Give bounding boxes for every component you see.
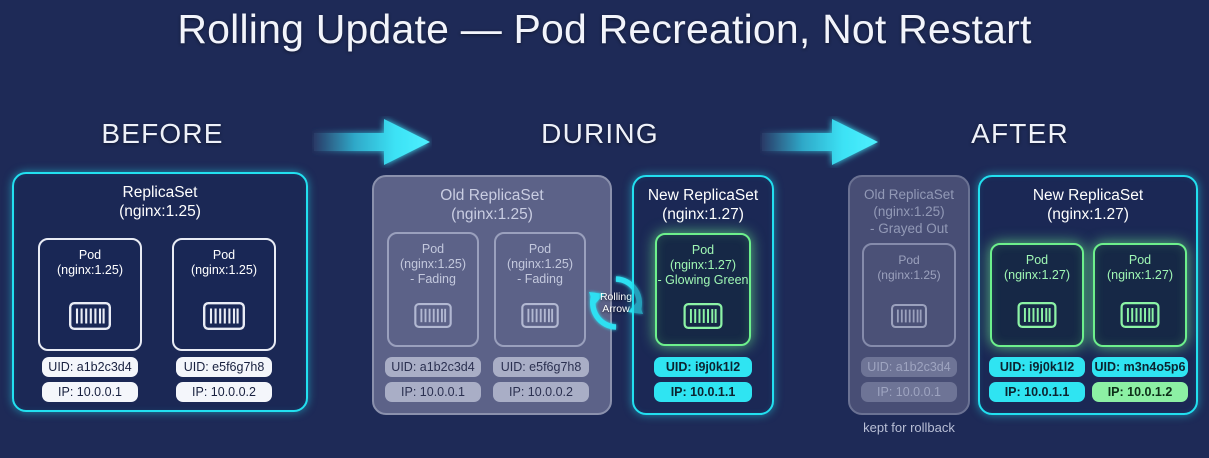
- during-old-replicaset-image: (nginx:1.25): [374, 205, 610, 224]
- during-old-pod-2-image: (nginx:1.25): [507, 257, 573, 272]
- before-replicaset-name: ReplicaSet: [123, 184, 198, 201]
- during-old-pod-2-note: - Fading: [507, 272, 573, 287]
- before-pod-1-uid-badge: UID: a1b2c3d4: [42, 357, 138, 377]
- after-old-pod-1-text: Pod (nginx:1.25): [877, 245, 940, 283]
- after-new-pod-2[interactable]: Pod (nginx:1.27): [1093, 243, 1187, 347]
- before-pod-2-uid-badge: UID: e5f6g7h8: [176, 357, 272, 377]
- after-old-replicaset-title: Old ReplicaSet (nginx:1.25) - Grayed Out: [850, 177, 968, 237]
- during-old-replicaset-name: Old ReplicaSet: [440, 187, 543, 204]
- after-old-pod-1-ip-badge: IP: 10.0.0.1: [861, 382, 957, 402]
- after-new-pod-1[interactable]: Pod (nginx:1.27): [990, 243, 1084, 347]
- during-new-pod-1-uid-badge: UID: i9j0k1l2: [654, 357, 752, 377]
- during-new-pod-1-note: - Glowing Green: [657, 273, 748, 288]
- after-new-pod-1-name: Pod: [1004, 253, 1070, 268]
- during-old-pod-2[interactable]: Pod (nginx:1.25) - Fading: [494, 232, 586, 347]
- after-new-replicaset-name: New ReplicaSet: [1033, 187, 1143, 204]
- before-pod-1-name: Pod: [57, 248, 123, 263]
- after-old-pod-1-uid-badge: UID: a1b2c3d4: [861, 357, 957, 377]
- after-new-pod-2-ip-badge: IP: 10.0.1.2: [1092, 382, 1188, 402]
- after-new-pod-2-text: Pod (nginx:1.27): [1107, 245, 1173, 283]
- container-icon: [683, 303, 723, 334]
- during-old-pod-1-name: Pod: [400, 242, 466, 257]
- before-pod-1[interactable]: Pod (nginx:1.25): [38, 238, 142, 351]
- before-pod-1-text: Pod (nginx:1.25): [57, 240, 123, 278]
- stage-label-after: AFTER: [915, 118, 1125, 150]
- container-icon: [203, 302, 245, 335]
- during-old-pod-1-uid-badge: UID: a1b2c3d4: [385, 357, 481, 377]
- during-new-pod-1-name: Pod: [657, 243, 748, 258]
- before-to-during-arrow-icon: [312, 116, 432, 168]
- container-icon: [891, 304, 927, 333]
- before-replicaset-title: ReplicaSet (nginx:1.25): [14, 174, 306, 221]
- before-pod-2-text: Pod (nginx:1.25): [191, 240, 257, 278]
- stage-label-before: BEFORE: [60, 118, 265, 150]
- during-new-pod-1-ip-badge: IP: 10.0.1.1: [654, 382, 752, 402]
- after-new-pod-1-text: Pod (nginx:1.27): [1004, 245, 1070, 283]
- before-pod-2-name: Pod: [191, 248, 257, 263]
- during-new-pod-1-text: Pod (nginx:1.27) - Glowing Green: [657, 235, 748, 288]
- after-new-replicaset-image: (nginx:1.27): [980, 205, 1196, 224]
- before-replicaset-image: (nginx:1.25): [14, 202, 306, 221]
- container-icon: [1120, 302, 1160, 333]
- during-old-pod-1-ip-badge: IP: 10.0.0.1: [385, 382, 481, 402]
- rolling-arrow-line2: Arrow: [602, 303, 629, 316]
- before-pod-1-image: (nginx:1.25): [57, 263, 123, 278]
- during-old-replicaset-title: Old ReplicaSet (nginx:1.25): [374, 177, 610, 224]
- during-new-replicaset-title: New ReplicaSet (nginx:1.27): [634, 177, 772, 224]
- during-old-pod-2-uid-badge: UID: e5f6g7h8: [493, 357, 589, 377]
- before-pod-1-ip-badge: IP: 10.0.0.1: [42, 382, 138, 402]
- after-old-pod-1-name: Pod: [877, 253, 940, 268]
- container-icon: [414, 303, 452, 333]
- after-new-pod-2-name: Pod: [1107, 253, 1173, 268]
- during-old-pod-2-text: Pod (nginx:1.25) - Fading: [507, 234, 573, 287]
- after-new-pod-1-image: (nginx:1.27): [1004, 268, 1070, 283]
- during-old-pod-2-ip-badge: IP: 10.0.0.2: [493, 382, 589, 402]
- after-old-replicaset-caption: kept for rollback: [848, 420, 970, 435]
- after-new-pod-2-image: (nginx:1.27): [1107, 268, 1173, 283]
- container-icon: [521, 303, 559, 333]
- during-new-replicaset-image: (nginx:1.27): [634, 205, 772, 224]
- after-old-pod-1-image: (nginx:1.25): [877, 268, 940, 283]
- during-old-pod-1-image: (nginx:1.25): [400, 257, 466, 272]
- during-old-pod-1-note: - Fading: [400, 272, 466, 287]
- after-new-pod-1-ip-badge: IP: 10.0.1.1: [989, 382, 1085, 402]
- during-old-pod-1-text: Pod (nginx:1.25) - Fading: [400, 234, 466, 287]
- after-old-pod-1[interactable]: Pod (nginx:1.25): [862, 243, 956, 347]
- during-old-pod-2-name: Pod: [507, 242, 573, 257]
- after-new-pod-1-uid-badge: UID: i9j0k1l2: [989, 357, 1085, 377]
- after-old-replicaset-image: (nginx:1.25): [850, 203, 968, 220]
- during-to-after-arrow-icon: [760, 116, 880, 168]
- stage-label-during: DURING: [495, 118, 705, 150]
- after-old-replicaset-note: - Grayed Out: [850, 220, 968, 237]
- container-icon: [1017, 302, 1057, 333]
- before-pod-2[interactable]: Pod (nginx:1.25): [172, 238, 276, 351]
- after-new-pod-2-uid-badge: UID: m3n4o5p6: [1092, 357, 1188, 377]
- before-pod-2-image: (nginx:1.25): [191, 263, 257, 278]
- during-old-pod-1[interactable]: Pod (nginx:1.25) - Fading: [387, 232, 479, 347]
- during-new-pod-1-image: (nginx:1.27): [657, 258, 748, 273]
- after-new-replicaset-title: New ReplicaSet (nginx:1.27): [980, 177, 1196, 224]
- before-pod-2-ip-badge: IP: 10.0.0.2: [176, 382, 272, 402]
- container-icon: [69, 302, 111, 335]
- after-old-replicaset-name: Old ReplicaSet: [864, 187, 954, 202]
- during-new-pod-1[interactable]: Pod (nginx:1.27) - Glowing Green: [655, 233, 751, 346]
- rolling-arrow-line1: Rolling: [600, 291, 632, 304]
- page-title: Rolling Update — Pod Recreation, Not Res…: [0, 6, 1209, 53]
- during-new-replicaset-name: New ReplicaSet: [648, 187, 758, 204]
